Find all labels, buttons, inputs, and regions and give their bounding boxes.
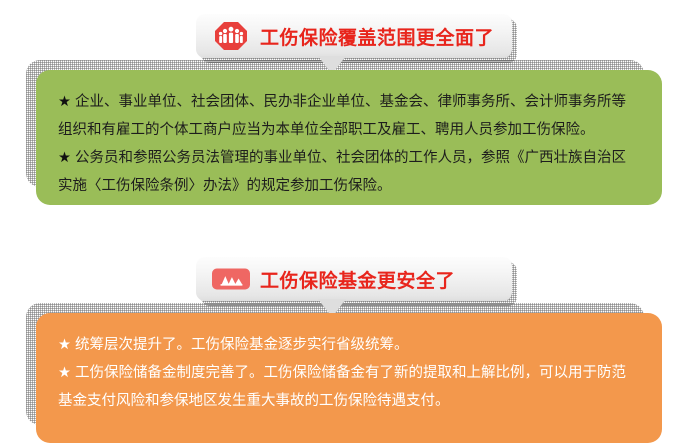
people-group-octagon-icon — [212, 21, 250, 51]
section-2-panel: ★统筹层次提升了。工伤保险基金逐步实行省级统筹。 ★工伤保险储备金制度完善了。工… — [36, 313, 662, 443]
section-1-title: 工伤保险覆盖范围更全面了 — [260, 23, 494, 50]
bullet-item: ★公务员和参照公务员法管理的事业单位、社会团体的工作人员，参照《广西壮族自治区实… — [58, 144, 640, 200]
bullet-text: 工伤保险储备金制度完善了。工伤保险储备金有了新的提取和上解比例，可以用于防范基金… — [58, 365, 626, 409]
bullet-text: 统筹层次提升了。工伤保险基金逐步实行省级统筹。 — [75, 337, 409, 353]
star-icon: ★ — [58, 337, 71, 353]
section-2-title-bubble: 工伤保险基金更安全了 — [196, 257, 512, 301]
section-1-panel: ★企业、事业单位、社会团体、民办非企业单位、基金会、律师事务所、会计师事务所等组… — [36, 70, 662, 205]
section-1-header: 工伤保险覆盖范围更全面了 — [0, 0, 700, 58]
star-icon: ★ — [58, 94, 71, 110]
section-2-header: 工伤保险基金更安全了 — [0, 243, 700, 301]
section-1-title-bubble: 工伤保险覆盖范围更全面了 — [196, 14, 512, 58]
bullet-item: ★工伤保险储备金制度完善了。工伤保险储备金有了新的提取和上解比例，可以用于防范基… — [58, 359, 640, 415]
bullet-item: ★统筹层次提升了。工伤保险基金逐步实行省级统筹。 — [58, 331, 640, 359]
star-icon: ★ — [58, 365, 71, 381]
section-2-title: 工伤保险基金更安全了 — [260, 266, 455, 293]
section-fund-safety: 工伤保险基金更安全了 ★统筹层次提升了。工伤保险基金逐步实行省级统筹。 ★工伤保… — [0, 243, 700, 301]
section-coverage-scope: 工伤保险覆盖范围更全面了 ★企业、事业单位、社会团体、民办非企业单位、基金会、律… — [0, 0, 700, 58]
star-icon: ★ — [58, 150, 71, 166]
bullet-text: 企业、事业单位、社会团体、民办非企业单位、基金会、律师事务所、会计师事务所等组织… — [58, 94, 626, 138]
infographic-page: 工伤保险覆盖范围更全面了 ★企业、事业单位、社会团体、民办非企业单位、基金会、律… — [0, 0, 700, 431]
fund-mountain-icon — [212, 264, 250, 294]
bullet-text: 公务员和参照公务员法管理的事业单位、社会团体的工作人员，参照《广西壮族自治区实施… — [58, 150, 626, 194]
bullet-item: ★企业、事业单位、社会团体、民办非企业单位、基金会、律师事务所、会计师事务所等组… — [58, 88, 640, 144]
